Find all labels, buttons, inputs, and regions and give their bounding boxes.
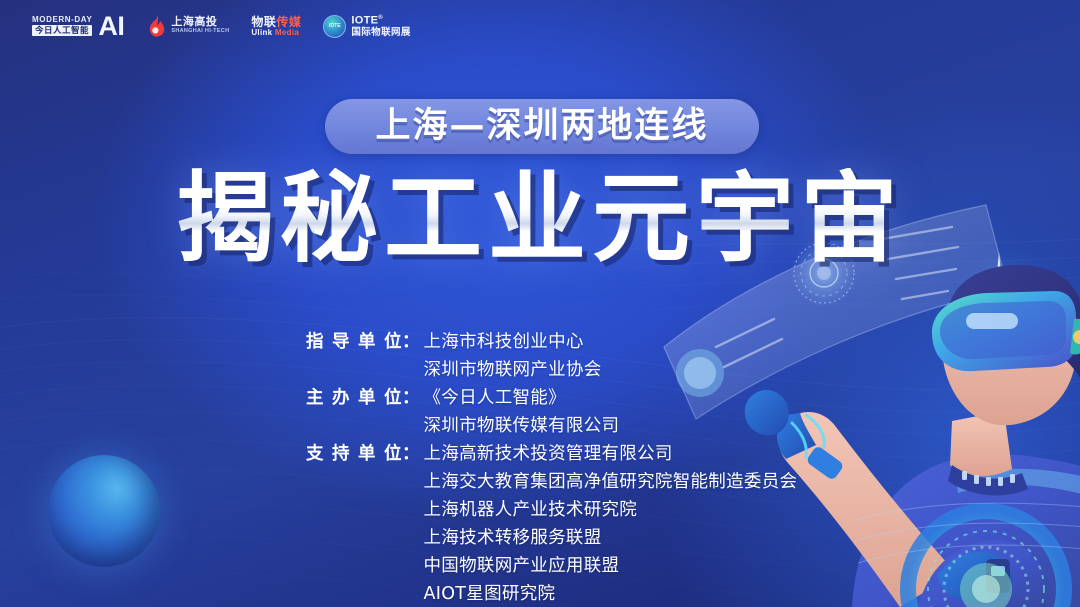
lower-glove xyxy=(938,552,1012,604)
credit-colon-0: ： xyxy=(402,328,420,356)
logo-iote-text: IOTE® 国际物联网展 xyxy=(351,15,410,37)
lower-arm xyxy=(918,540,1048,607)
credit-value-2-3: 上海技术转移服务联盟 xyxy=(424,524,798,552)
headset-knob xyxy=(1073,330,1080,344)
credit-value-2-5: AIOT星图研究院 xyxy=(424,580,798,607)
subtitle-badge: 上海—深圳两地连线 xyxy=(325,99,759,154)
collar xyxy=(948,465,1028,495)
credit-value-2-1: 上海交大教育集团高净值研究院智能制造委员会 xyxy=(424,468,798,496)
logo-modern-day-ai-mark: AI xyxy=(98,15,124,38)
shirt-trim xyxy=(956,469,1080,495)
sphere-left xyxy=(48,455,160,567)
credit-value-2-4: 中国物联网产业应用联盟 xyxy=(424,552,798,580)
credit-values-0: 上海市科技创业中心 深圳市物联网产业协会 xyxy=(420,328,602,384)
logo-iote-english: IOTE xyxy=(351,15,378,27)
subtitle-text: 上海—深圳两地连线 xyxy=(375,109,708,144)
logo-modern-day-ai: MODERN-DAY 今日人工智能 AI xyxy=(32,15,124,38)
credit-value-0-0: 上海市科技创业中心 xyxy=(424,328,602,356)
credit-colon-1: ： xyxy=(402,384,420,412)
logo-ulink-media-english-part2: Media xyxy=(275,28,299,37)
credit-value-1-0: 《今日人工智能》 xyxy=(424,384,620,412)
credit-value-2-2: 上海机器人产业技术研究院 xyxy=(424,496,798,524)
logo-ulink-media-english: Ulink Media xyxy=(251,29,299,37)
sphere-right xyxy=(972,272,1046,346)
page-title: 揭秘工业元宇宙 xyxy=(0,168,1080,271)
logo-ulink-media-chinese: 物联传媒 xyxy=(251,16,301,28)
page-title-text: 揭秘工业元宇宙 xyxy=(176,168,904,271)
logo-ulink-media: 物联传媒 Ulink Media xyxy=(251,16,301,37)
head xyxy=(942,283,1076,425)
handheld-device xyxy=(986,559,1010,593)
hair xyxy=(947,265,1080,389)
logo-bar: MODERN-DAY 今日人工智能 AI 上海高投 SHANGHAI HI-TE… xyxy=(32,14,411,38)
logo-iote: IOTE IOTE® 国际物联网展 xyxy=(323,15,410,38)
logo-modern-day-ai-english: MODERN-DAY xyxy=(32,16,92,24)
logo-modern-day-ai-text: MODERN-DAY 今日人工智能 xyxy=(32,16,92,37)
credit-values-2: 上海高新技术投资管理有限公司 上海交大教育集团高净值研究院智能制造委员会 上海机… xyxy=(420,440,798,607)
logo-ulink-media-chinese-part2: 传媒 xyxy=(276,15,301,29)
flame-icon xyxy=(146,14,166,38)
credit-label-1: 主办单位 xyxy=(306,384,402,412)
neck xyxy=(950,411,1012,476)
logo-shanghai-gaotou: 上海高投 SHANGHAI HI-TECH xyxy=(146,14,229,38)
headset-strap xyxy=(1070,319,1080,355)
credit-label-0: 指导单位 xyxy=(306,328,402,356)
globe-icon-label: IOTE xyxy=(329,24,341,29)
torso xyxy=(852,454,1080,607)
credit-colon-2: ： xyxy=(402,440,420,468)
logo-ulink-media-english-part1: Ulink xyxy=(251,28,272,37)
credits-block: 指导单位 ： 上海市科技创业中心 深圳市物联网产业协会 主办单位 ： 《今日人工… xyxy=(306,328,797,607)
credit-value-2-0: 上海高新技术投资管理有限公司 xyxy=(424,440,798,468)
logo-modern-day-ai-chinese: 今日人工智能 xyxy=(32,25,92,37)
logo-iote-english-row: IOTE® xyxy=(351,15,410,27)
logo-ulink-media-chinese-part1: 物联 xyxy=(251,15,276,29)
vr-headset xyxy=(932,291,1080,371)
logo-shanghai-gaotou-english: SHANGHAI HI-TECH xyxy=(171,29,229,35)
circular-hud xyxy=(908,511,1064,607)
logo-shanghai-gaotou-chinese: 上海高投 xyxy=(171,17,229,28)
credit-label-2: 支持单位 xyxy=(306,440,402,468)
globe-icon: IOTE xyxy=(323,15,346,38)
credit-row-2: 支持单位 ： 上海高新技术投资管理有限公司 上海交大教育集团高净值研究院智能制造… xyxy=(306,440,797,607)
credit-value-1-1: 深圳市物联传媒有限公司 xyxy=(424,412,620,440)
credit-values-1: 《今日人工智能》 深圳市物联传媒有限公司 xyxy=(420,384,620,440)
logo-iote-registered: ® xyxy=(378,15,383,21)
credit-row-1: 主办单位 ： 《今日人工智能》 深圳市物联传媒有限公司 xyxy=(306,384,797,440)
poster-canvas: MODERN-DAY 今日人工智能 AI 上海高投 SHANGHAI HI-TE… xyxy=(0,0,1080,607)
logo-shanghai-gaotou-text: 上海高投 SHANGHAI HI-TECH xyxy=(171,17,229,35)
credit-row-0: 指导单位 ： 上海市科技创业中心 深圳市物联网产业协会 xyxy=(306,328,797,384)
accent-flow-lines xyxy=(852,503,1080,563)
credit-value-0-1: 深圳市物联网产业协会 xyxy=(424,356,602,384)
logo-iote-chinese: 国际物联网展 xyxy=(351,28,410,38)
wrist-band xyxy=(805,445,844,481)
